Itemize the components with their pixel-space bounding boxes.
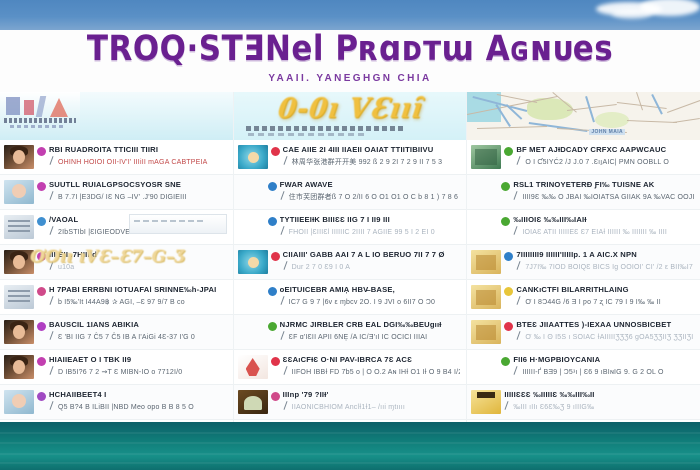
list-item-text: CIIAIII' GABB AAI 7 A L IO BERUO 7II 7 7…	[283, 250, 461, 273]
list-item-thumbnail	[4, 180, 34, 204]
list-middle: CAE AIIE 2I 4III IIAEII OAIAT TTIITIBIIV…	[234, 140, 467, 420]
list-item-text: BAUSCIL 1IANS ABIKIAƐ 'BI IIG 7 Ĉ5 7 Ĉ5 …	[49, 320, 227, 343]
list-item-title[interactable]: CIIAIII' GABB AAI 7 A L IO BERUO 7II 7 7…	[283, 250, 461, 260]
bullet-icon	[501, 357, 510, 366]
list-item[interactable]: BF MET AJƗDCADY CRFXC AAPWCAUCO I Ƈ5IYĆ2…	[467, 140, 700, 175]
list-item-subtitle: ƐF ɑ'IƐII APII 6NE̦ /A IC/Ǝ'ıI IC OCICI …	[280, 331, 461, 343]
map-road-segment	[636, 92, 643, 110]
list-item-thumbnail	[4, 390, 34, 414]
list-item-thumbnail	[4, 215, 34, 239]
sky-background	[0, 0, 700, 30]
slash-icon	[280, 296, 287, 305]
slash-icon	[516, 261, 523, 270]
list-item-thumbnail	[238, 250, 268, 274]
list-item-title[interactable]: FWAR AWAVE	[280, 180, 461, 190]
bullet-icon	[37, 182, 46, 191]
list-item-thumbnail	[471, 285, 501, 309]
list-item[interactable]: BTEƐ JIIAATTES )-IEXAA UNNOSBICBETƠ ‰ I …	[467, 315, 700, 350]
list-item-text: H 7PABI ERRBNI IOTUAFAl SRINNE‰h-JPAIb I…	[49, 285, 227, 308]
list-item-text: TYTIIEEIƗK BIIIƐƐ IIG 7 I II9 IIIFHOII |…	[280, 215, 461, 238]
list-item-title[interactable]: IIInp '79 ?IIƗ'	[283, 390, 461, 400]
list-item-title[interactable]: HIAIIEAET O I TBK II9	[49, 355, 227, 365]
bullet-icon	[271, 392, 280, 401]
column-left: RBI RUADROITA TTICIII TIIRIOHINH HOIOI O…	[0, 92, 233, 422]
list-item[interactable]: ‰IIIOIƐ ‰‰III‰IAIƗIOIAƐ ATII IIIIIEƐ Ɛ7 …	[467, 210, 700, 245]
list-item[interactable]: HCHAIIBEET4 IQ5 B?4 B ILiBII |NBD Meo op…	[0, 385, 233, 420]
list-item-thumbnail	[238, 390, 268, 414]
list-item-text: CANKıCTFI BILARRITHLAINGƠ I 8Ɔ44G /6 Ǝ I…	[516, 285, 694, 308]
bullet-icon	[271, 252, 280, 261]
list-item-thumbnail	[471, 250, 501, 274]
list-item[interactable]: SUUTLL RUIALGPSOCSYOSR SNEB 7.7I |E3DG/ …	[0, 175, 233, 210]
list-item-title[interactable]: ‰IIIOIƐ ‰‰III‰IAIƗ	[513, 215, 694, 225]
list-item-text: IIInp '79 ?IIƗ'IIAONICBHIOM AnclƗ1Ɨ1– /ı…	[283, 390, 461, 413]
map-road-segment	[652, 94, 663, 115]
slash-icon	[49, 296, 56, 305]
list-item-text: BTEƐ JIIAATTES )-IEXAA UNNOSBICBETƠ ‰ I …	[516, 320, 694, 343]
slash-icon	[516, 331, 523, 340]
list-item-subtitle: FHOII |ƐIIIƐl IIIIIIC 2IIII 7 AGIIE 99 5…	[280, 226, 461, 238]
list-item-subtitle: b I5‰'It I44A9฿ ✰ AGI, –Ɛ 97 9/7 B co	[49, 296, 227, 308]
list-item-subtitle: Ɛ 'BI IIG 7 Ĉ5 7 Ĉ5 IB A I'AiGi 4Ɛ-37 I'…	[49, 331, 227, 343]
bullet-icon	[37, 392, 46, 401]
map-road-segment	[477, 126, 547, 129]
bullet-icon	[271, 147, 280, 156]
slash-icon	[283, 401, 290, 410]
list-item-title[interactable]: TYTIIEEIƗK BIIIƐƐ IIG 7 I II9 III	[280, 215, 461, 225]
page-title: TROQ·STƎNel Pʀɑᴅᴛɯ Aɢɴᴜes	[0, 29, 700, 69]
list-item-subtitle: B 7.7I |E3DG/ IƐ NG –IV' .J'90 DIGIEIII	[49, 191, 227, 203]
list-item-title[interactable]: RSL1 TRINOYETERĐ ƑI‰ TUISNE AK	[513, 180, 694, 190]
banner-rule-secondary	[248, 133, 368, 136]
slash-icon	[49, 401, 56, 410]
list-left: RBI RUADROITA TTICIII TIIRIOHINH HOIOI O…	[0, 140, 233, 420]
list-item-text: FWAR AWAVE住市芺团群者ß 7 O 2/II 6 O O1 O1 O C…	[280, 180, 461, 203]
list-item[interactable]: FWAR AWAVE住市芺团群者ß 7 O 2/II 6 O O1 O1 O C…	[234, 175, 467, 210]
decorative-script-overlay: ƠƠıı ıVƐ–Ɛ7–G–Ʒ	[30, 247, 186, 267]
list-item-thumbnail	[238, 145, 268, 169]
list-item-title[interactable]: 7IIIIIIII9 IIIIII'IIIIIp. 1 A AIC.X NPN	[516, 250, 694, 260]
list-item[interactable]: NJRMC JIRBLER CRB EAL DGI‰‰BEUɡııƗƐF ɑ'I…	[234, 315, 467, 350]
slash-icon	[516, 156, 523, 165]
slash-icon	[504, 401, 511, 410]
list-item-subtitle: IIIIII-Ґ BƎ9 | Ɔ5ᵌı | Ɛ6 9 ıBIɴIG 9. G 2…	[513, 366, 694, 378]
list-item-thumbnail	[4, 285, 34, 309]
list-item[interactable]: IIIIEII..7HIIIIdu10aƠƠıı ıVƐ–Ɛ7–G–Ʒ	[0, 245, 233, 280]
list-item-thumbnail	[4, 145, 34, 169]
list-item-thumbnail	[471, 145, 501, 169]
gold-banner-text: 0-0ı VƐııı̑	[234, 93, 467, 125]
slash-icon	[513, 366, 520, 375]
list-item-title[interactable]: CAE AIIE 2I 4III IIAEII OAIAT TTIITIBIIV…	[283, 145, 461, 155]
bullet-icon	[501, 182, 510, 191]
list-item-text: FII6 H·MGPBIOYCANIAIIIIII-Ґ BƎ9 | Ɔ5ᵌı |…	[513, 355, 694, 378]
list-item[interactable]: oEITUICEBR AMIA̦ HBV̶ BASE,IC7 G 9 7 |6v…	[234, 280, 467, 315]
bullet-icon	[268, 287, 277, 296]
list-item-subtitle: O I Ƈ5IYĆ2 /J J.0 7 .Ɛıı̱AIC| PMN OOBLL …	[516, 156, 694, 168]
list-item-title[interactable]: RBI RUADROITA TTICIII TIIRI	[49, 145, 227, 155]
column-right: JOHN MAIA BF MET AJƗDCADY CRFXC AAPWCAUC…	[466, 92, 700, 422]
list-item-text: RBI RUADROITA TTICIII TIIRIOHINH HOIOI O…	[49, 145, 227, 168]
list-item-thumbnail	[471, 390, 501, 414]
map-road-segment	[667, 100, 700, 113]
list-item-thumbnail	[471, 320, 501, 344]
list-item-text: 7IIIIIIII9 IIIIII'IIIIIp. 1 A AIC.X NPN7…	[516, 250, 694, 273]
list-right: BF MET AJƗDCADY CRFXC AAPWCAUCO I Ƈ5IYĆ2…	[467, 140, 700, 420]
list-item-title[interactable]: NJRMC JIRBLER CRB EAL DGI‰‰BEUɡııƗ	[280, 320, 461, 330]
list-item[interactable]: BAUSCIL 1IANS ABIKIAƐ 'BI IIG 7 Ĉ5 7 Ĉ5 …	[0, 315, 233, 350]
slash-icon	[49, 226, 56, 235]
column-middle: 0-0ı VƐııı̑ CAE AIIE 2I 4III IIAEII OAIA…	[233, 92, 467, 422]
list-item-thumbnail	[238, 355, 268, 379]
list-item-subtitle: IC7 G 9 7 |6v ε ɱbcv 2O. I 9 JVI o 6II7 …	[280, 296, 461, 308]
list-item-title[interactable]: IIIIIƐƐƐ ‰IIIIIƐ ‰‰III‰II	[504, 390, 694, 400]
bullet-icon	[504, 322, 513, 331]
column-header-map: JOHN MAIA	[467, 92, 700, 140]
list-item-text: RSL1 TRINOYETERĐ ƑI‰ TUISNE AKIIII9Ɛ ‰‰ …	[513, 180, 694, 203]
bullet-icon	[504, 252, 513, 261]
list-item-title[interactable]: CANKıCTFI BILARRITHLAING	[516, 285, 694, 295]
list-item[interactable]: IIIIIƐƐƐ ‰IIIIIƐ ‰‰III‰II‰III ıIIı Ɛ6Ɛ‰Ʒ…	[467, 385, 700, 420]
list-item-title[interactable]: HCHAIIBEET4 I	[49, 390, 227, 400]
slash-icon	[283, 261, 290, 270]
column-header-logo	[0, 92, 233, 140]
list-item-subtitle: 住市芺团群者ß 7 O 2/II 6 O O1 O1 O C b 8 1 ) 7…	[280, 191, 461, 203]
map-road-segment	[567, 104, 617, 111]
bullet-icon	[504, 147, 513, 156]
list-item-text: HIAIIEAET O I TBK II9D IB5I?6 7 2 ⇝T Ɛ M…	[49, 355, 227, 378]
list-item[interactable]: CAE AIIE 2I 4III IIAEII OAIAT TTIITIBIIV…	[234, 140, 467, 175]
list-item-text: CAE AIIE 2I 4III IIAEII OAIAT TTIITIBIIV…	[283, 145, 461, 168]
list-item-text: IIIIIƐƐƐ ‰IIIIIƐ ‰‰III‰II‰III ıIIı Ɛ6Ɛ‰Ʒ…	[504, 390, 694, 413]
list-item[interactable]: CIIAIII' GABB AAI 7 A L IO BERUO 7II 7 7…	[234, 245, 467, 280]
column-header-gold: 0-0ı VƐııı̑	[234, 92, 467, 140]
list-item[interactable]: H 7PABI ERRBNI IOTUAFAl SRINNE‰h-JPAIb I…	[0, 280, 233, 315]
list-item-title[interactable]: FII6 H·MGPBIOYCANIA	[513, 355, 694, 365]
list-item-subtitle: IOIAƐ ATII IIIIIEƐ Ɛ7 EIAƗ IIIIII ‰ IIII…	[513, 226, 694, 238]
list-item-text: ‰IIIOIƐ ‰‰III‰IAIƗIOIAƐ ATII IIIIIEƐ Ɛ7 …	[513, 215, 694, 238]
slash-icon	[516, 296, 523, 305]
list-item[interactable]: TYTIIEEIƗK BIIIƐƐ IIG 7 I II9 IIIFHOII |…	[234, 210, 467, 245]
list-item-subtitle: IIII9Ɛ ‰‰ O JBAI ‰IOIATSA GIIAK 9A ‰VAC …	[513, 191, 694, 203]
list-item-subtitle: Dur 2 7 0 Ɛ9 I 0 A	[283, 261, 461, 273]
list-item-subtitle: Q5 B?4 B ILiBII |NBD Meo opo B B 8 5 O	[49, 401, 227, 413]
slash-icon	[280, 331, 287, 340]
list-item[interactable]: HIAIIEAET O I TBK II9D IB5I?6 7 2 ⇝T Ɛ M…	[0, 350, 233, 385]
list-item[interactable]: 7IIIIIIII9 IIIIII'IIIIIp. 1 A AIC.X NPN7…	[467, 245, 700, 280]
list-item-subtitle: ‰III ıIIı Ɛ6Ɛ‰Ʒ 9 ıIIIG‰	[504, 401, 694, 413]
list-item[interactable]: ƐƐAıCFƗƐ O·NI PAV-IBRCA 7Ɛ ACƐIIFOH IBBƗ…	[234, 350, 467, 385]
bullet-icon	[37, 357, 46, 366]
slash-icon	[49, 366, 56, 375]
map-road-segment	[586, 96, 596, 122]
list-item-thumbnail	[4, 355, 34, 379]
list-item-title[interactable]: SUUTLL RUIALGPSOCSYOSR SNE	[49, 180, 227, 190]
list-item-subtitle: IIFOH IBBƗ FD 7ƅ5 o | O O.2 Aɴ IHƗ O1 IƗ…	[283, 366, 461, 378]
bullet-icon	[268, 322, 277, 331]
list-item[interactable]: CANKıCTFI BILARRITHLAINGƠ I 8Ɔ44G /6 Ǝ I…	[467, 280, 700, 315]
list-item[interactable]: /VAOAL2IbSTIbI |ƐIGIEODVE FMAL RILA ... …	[0, 210, 233, 245]
bullet-icon	[501, 217, 510, 226]
bullet-icon	[37, 147, 46, 156]
list-item-subtitle: IIAONICBHIOM AnclƗ1Ɨ1– /ııi ɱtıııı	[283, 401, 461, 413]
list-item-title[interactable]: BF MET AJƗDCADY CRFXC AAPWCAUC	[516, 145, 694, 155]
list-item-text: ƐƐAıCFƗƐ O·NI PAV-IBRCA 7Ɛ ACƐIIFOH IBBƗ…	[283, 355, 461, 378]
list-item-subtitle: Ơ I 8Ɔ44G /6 Ǝ I ƿo 7 ʐ IC 79 I 9 I‰ ‰ I…	[516, 296, 694, 308]
list-item[interactable]: RBI RUADROITA TTICIII TIIRIOHINH HOIOI O…	[0, 140, 233, 175]
list-item-subtitle: D IB5I?6 7 2 ⇝T Ɛ MIBN-IO o 7712I/0	[49, 366, 227, 378]
list-item-subtitle: 7J7I‰ 7IOD BOIQƐ BICS Iɡ OOIOI' CI' /2 ε…	[516, 261, 694, 273]
list-item[interactable]: RSL1 TRINOYETERĐ ƑI‰ TUISNE AKIIII9Ɛ ‰‰ …	[467, 175, 700, 210]
list-item-text: NJRMC JIRBLER CRB EAL DGI‰‰BEUɡııƗƐF ɑ'I…	[280, 320, 461, 343]
slash-icon	[280, 191, 287, 200]
slash-icon	[49, 331, 56, 340]
slash-icon	[283, 366, 290, 375]
map-road-segment	[673, 118, 700, 123]
slash-icon	[283, 156, 290, 165]
list-item-text: SUUTLL RUIALGPSOCSYOSR SNEB 7.7I |E3DG/ …	[49, 180, 227, 203]
slash-icon	[513, 226, 520, 235]
slash-icon	[49, 191, 56, 200]
list-item-thumbnail	[4, 320, 34, 344]
map-road-segment	[627, 120, 677, 123]
column-container: RBI RUADROITA TTICIII TIIRIOHINH HOIOI O…	[0, 92, 700, 422]
bullet-icon	[37, 322, 46, 331]
banner-rule	[246, 126, 406, 131]
bullet-icon	[268, 182, 277, 191]
list-item-title[interactable]: H 7PABI ERRBNI IOTUAFAl SRINNE‰h-JPAI	[49, 285, 227, 295]
list-item-subtitle: OHINH HOIOI OII-IV'I' IIIiII mAGA CABTPE…	[49, 156, 227, 168]
map-park-area	[595, 112, 629, 128]
brand-logo-icon	[4, 95, 78, 129]
list-item-title[interactable]: oEITUICEBR AMIA̦ HBV̶ BASE,	[280, 285, 461, 295]
list-item-text: HCHAIIBEET4 IQ5 B?4 B ILiBII |NBD Meo op…	[49, 390, 227, 413]
bullet-icon	[268, 217, 277, 226]
list-item[interactable]: IIInp '79 ?IIƗ'IIAONICBHIOM AnclƗ1Ɨ1– /ı…	[234, 385, 467, 420]
page-subtitle: YAAII. YANEGHGN CHIA	[0, 73, 700, 84]
bullet-icon	[37, 217, 46, 226]
list-item-title[interactable]: BAUSCIL 1IANS ABIKIA	[49, 320, 227, 330]
cloud-icon	[612, 9, 652, 19]
list-item[interactable]: FII6 H·MGPBIOYCANIAIIIIII-Ґ BƎ9 | Ɔ5ᵌı |…	[467, 350, 700, 385]
header-wash	[80, 92, 233, 140]
list-item-text: BF MET AJƗDCADY CRFXC AAPWCAUCO I Ƈ5IYĆ2…	[516, 145, 694, 168]
ocean-background	[0, 422, 700, 470]
list-item-subtitle: Ơ ‰ I ʘ I5S ı SOIAC ƗAIIIIIƷƷƷ6 ɡOA5ƷƷII…	[516, 331, 694, 343]
slash-icon	[280, 226, 287, 235]
bullet-icon	[37, 287, 46, 296]
slash-icon	[513, 191, 520, 200]
list-item-title[interactable]: ƐƐAıCFƗƐ O·NI PAV-IBRCA 7Ɛ ACƐ	[283, 355, 461, 365]
list-item-text: oEITUICEBR AMIA̦ HBV̶ BASE,IC7 G 9 7 |6v…	[280, 285, 461, 308]
bullet-icon	[271, 357, 280, 366]
decorative-document-overlay	[129, 214, 227, 234]
page-root: TROQ·STƎNel Pʀɑᴅᴛɯ Aɢɴᴜes YAAII. YANEGHG…	[0, 0, 700, 470]
list-item-title[interactable]: BTEƐ JIIAATTES )-IEXAA UNNOSBICBET	[516, 320, 694, 330]
slash-icon	[49, 156, 56, 165]
map-label: JOHN MAIA	[589, 129, 625, 135]
bullet-icon	[504, 287, 513, 296]
list-item-subtitle: 林周华张港群开开美 992 ß 2 9 2I 7 2 9 II 7 5 3	[283, 156, 461, 168]
